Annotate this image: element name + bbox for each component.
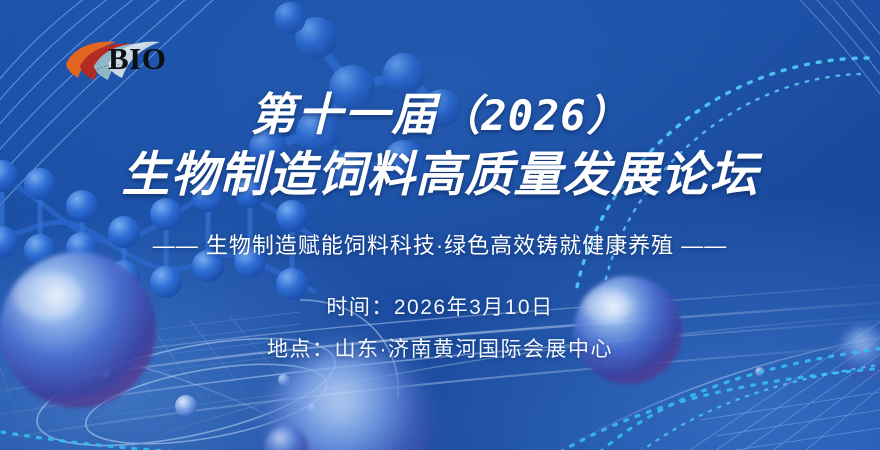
title-line-2: 生物制造饲料高质量发展论坛 <box>0 148 880 204</box>
banner-subtitle: —— 生物制造赋能饲料科技·绿色高效铸就健康养殖 —— <box>0 228 880 260</box>
conference-banner: BIO 第十一届（2026） 生物制造饲料高质量发展论坛 —— 生物制造赋能饲料… <box>0 0 880 450</box>
title-line-1-text: 第十一届 <box>250 89 438 140</box>
event-date: 时间：2026年3月10日 <box>0 291 880 321</box>
title-line-1: 第十一届（2026） <box>0 90 880 141</box>
banner-content: 第十一届（2026） 生物制造饲料高质量发展论坛 —— 生物制造赋能饲料科技·绿… <box>0 0 880 450</box>
event-venue: 地点：山东·济南黄河国际会展中心 <box>0 333 880 363</box>
title-year: （2026） <box>438 91 629 140</box>
